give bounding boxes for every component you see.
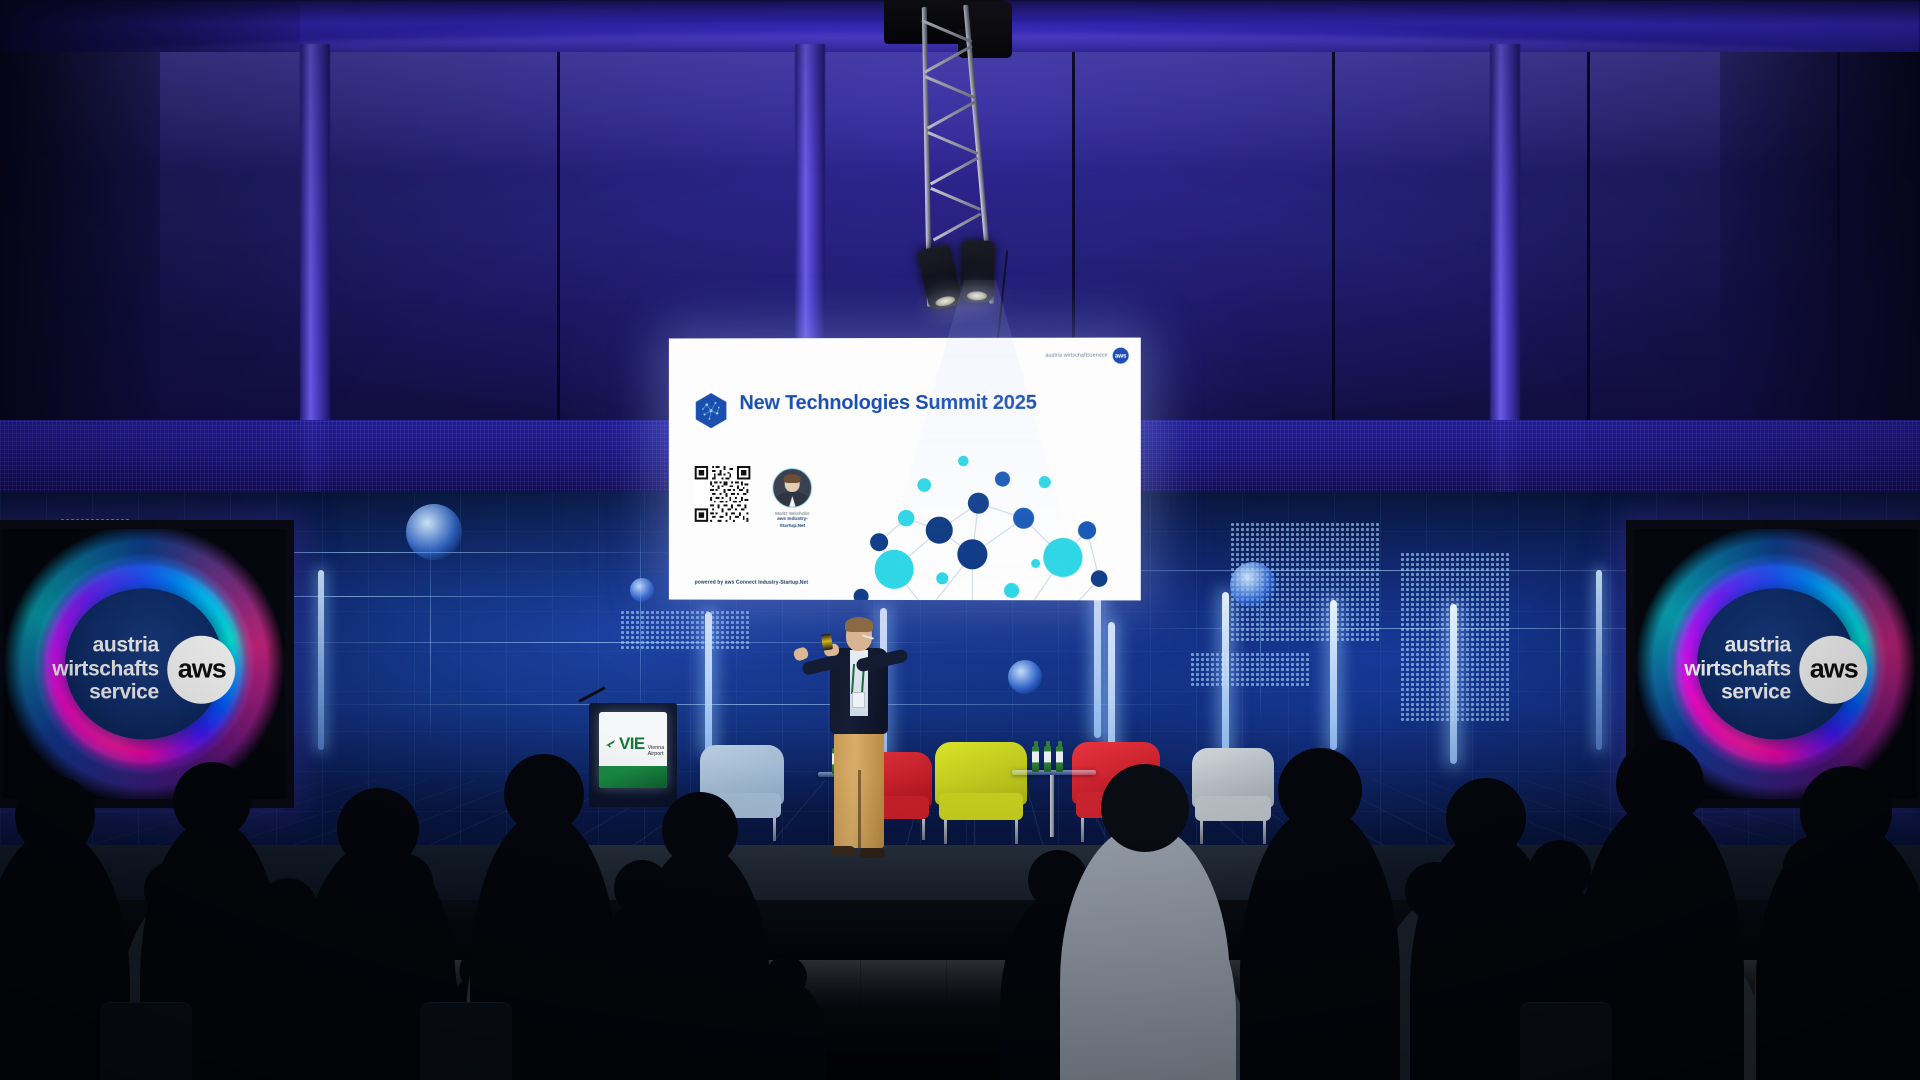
presenter-shoe bbox=[832, 846, 856, 856]
aws-brand-lockup-left: austria wirtschafts service aws bbox=[52, 634, 235, 705]
aws-logo-mark: aws bbox=[168, 635, 236, 703]
backdrop-dot-matrix bbox=[620, 610, 750, 650]
slide-title: New Technologies Summit 2025 bbox=[739, 392, 1036, 415]
truss-brace bbox=[924, 45, 973, 74]
presenter-shoe bbox=[860, 848, 885, 858]
aws-logo-mark: aws bbox=[1113, 348, 1129, 364]
podium-branding-screen: VIE Vienna Airport bbox=[599, 712, 667, 788]
led-light-tube bbox=[1330, 600, 1337, 750]
led-light-tube bbox=[1094, 588, 1101, 738]
led-screen-left: austria wirtschafts service aws bbox=[0, 520, 294, 808]
presentation-slide[interactable]: austria wirtschaftsservice aws New Techn… bbox=[669, 338, 1141, 601]
aws-brand-wordmark: austria wirtschafts service bbox=[52, 634, 158, 705]
brand-line-2: wirtschafts bbox=[1684, 658, 1790, 682]
brand-line-1: austria bbox=[52, 634, 158, 658]
backdrop-line bbox=[430, 532, 431, 742]
presenter-speaker bbox=[800, 620, 920, 870]
water-bottle bbox=[1032, 746, 1039, 772]
network-cluster-graphic bbox=[834, 452, 1120, 601]
backdrop-glow-node bbox=[1230, 562, 1276, 608]
truss-brace bbox=[927, 131, 978, 155]
chair-yellow bbox=[935, 742, 1027, 844]
chair-light-blue bbox=[700, 745, 784, 841]
led-light-tube bbox=[1222, 592, 1229, 752]
chair-light-gray bbox=[1192, 748, 1274, 844]
slide-header: New Technologies Summit 2025 bbox=[695, 392, 1037, 429]
ceiling-shadow-left bbox=[0, 0, 300, 60]
hexagon-network-icon bbox=[695, 392, 728, 429]
slide-brand-text: austria wirtschaftsservice bbox=[1045, 353, 1107, 359]
aws-logo-mark: aws bbox=[1800, 635, 1868, 703]
led-light-tube bbox=[1596, 570, 1602, 750]
led-light-tube bbox=[318, 570, 324, 750]
brand-line-2: wirtschafts bbox=[52, 658, 158, 682]
truss-brace bbox=[930, 157, 979, 186]
conference-stage-scene: austria wirtschaftsservice aws New Techn… bbox=[0, 0, 1920, 1080]
aws-brand-lockup-right: austria wirtschafts service aws bbox=[1684, 634, 1867, 705]
led-screen-right: austria wirtschafts service aws bbox=[1626, 520, 1920, 808]
qr-code-icon[interactable] bbox=[695, 466, 751, 522]
truss-brace bbox=[930, 187, 981, 211]
water-bottle bbox=[1044, 746, 1051, 772]
led-light-tube bbox=[1450, 604, 1457, 764]
speaker-card: Moritz Weinhofer aws Industry-Startup.Ne… bbox=[764, 468, 820, 530]
vienna-airport-sublabel: Vienna Airport bbox=[648, 745, 665, 758]
stage-carpet bbox=[560, 845, 1320, 907]
spotlight bbox=[960, 240, 995, 303]
vie-sub-line-2: Airport bbox=[648, 751, 664, 757]
truss-brace bbox=[924, 75, 975, 99]
spotlight bbox=[916, 243, 963, 311]
slide-brand-logo: austria wirtschaftsservice aws bbox=[1045, 348, 1128, 364]
led-light-tube bbox=[705, 612, 712, 752]
backdrop-glow-node bbox=[1008, 660, 1042, 694]
backdrop-glow-node bbox=[406, 504, 462, 560]
speaker-headshot-avatar bbox=[772, 468, 812, 508]
slide-footer-credit: powered by aws Connect Industry-Startup.… bbox=[695, 580, 809, 586]
vie-sub-line-1: Vienna bbox=[648, 745, 665, 751]
vienna-airport-logo: VIE Vienna Airport bbox=[605, 734, 664, 758]
chair-red-right bbox=[1072, 742, 1160, 842]
vie-wordmark: VIE bbox=[619, 734, 645, 754]
lighting-truss bbox=[880, 0, 1017, 329]
brand-line-3: service bbox=[1684, 681, 1790, 705]
airplane-icon bbox=[605, 739, 616, 749]
name-badge bbox=[852, 692, 865, 708]
aws-brand-wordmark: austria wirtschafts service bbox=[1684, 634, 1790, 705]
podium-green-accent bbox=[599, 766, 667, 788]
floor-tiles bbox=[0, 960, 1920, 1080]
truss-brace bbox=[933, 213, 982, 242]
presentation-clicker bbox=[821, 633, 833, 650]
brand-line-1: austria bbox=[1684, 634, 1790, 658]
truss-brace bbox=[927, 101, 976, 130]
venue-floor bbox=[0, 960, 1920, 1080]
lectern-podium: VIE Vienna Airport bbox=[589, 703, 677, 807]
backdrop-dot-matrix bbox=[1190, 652, 1310, 686]
backdrop-line bbox=[300, 704, 1200, 705]
backdrop-line bbox=[1560, 542, 1561, 732]
water-bottle bbox=[1056, 746, 1063, 772]
brand-line-3: service bbox=[52, 681, 158, 705]
truss-hanger bbox=[922, 0, 970, 31]
backdrop-glow-node bbox=[630, 578, 654, 602]
speaker-role: aws Industry-Startup.Net bbox=[764, 517, 820, 530]
